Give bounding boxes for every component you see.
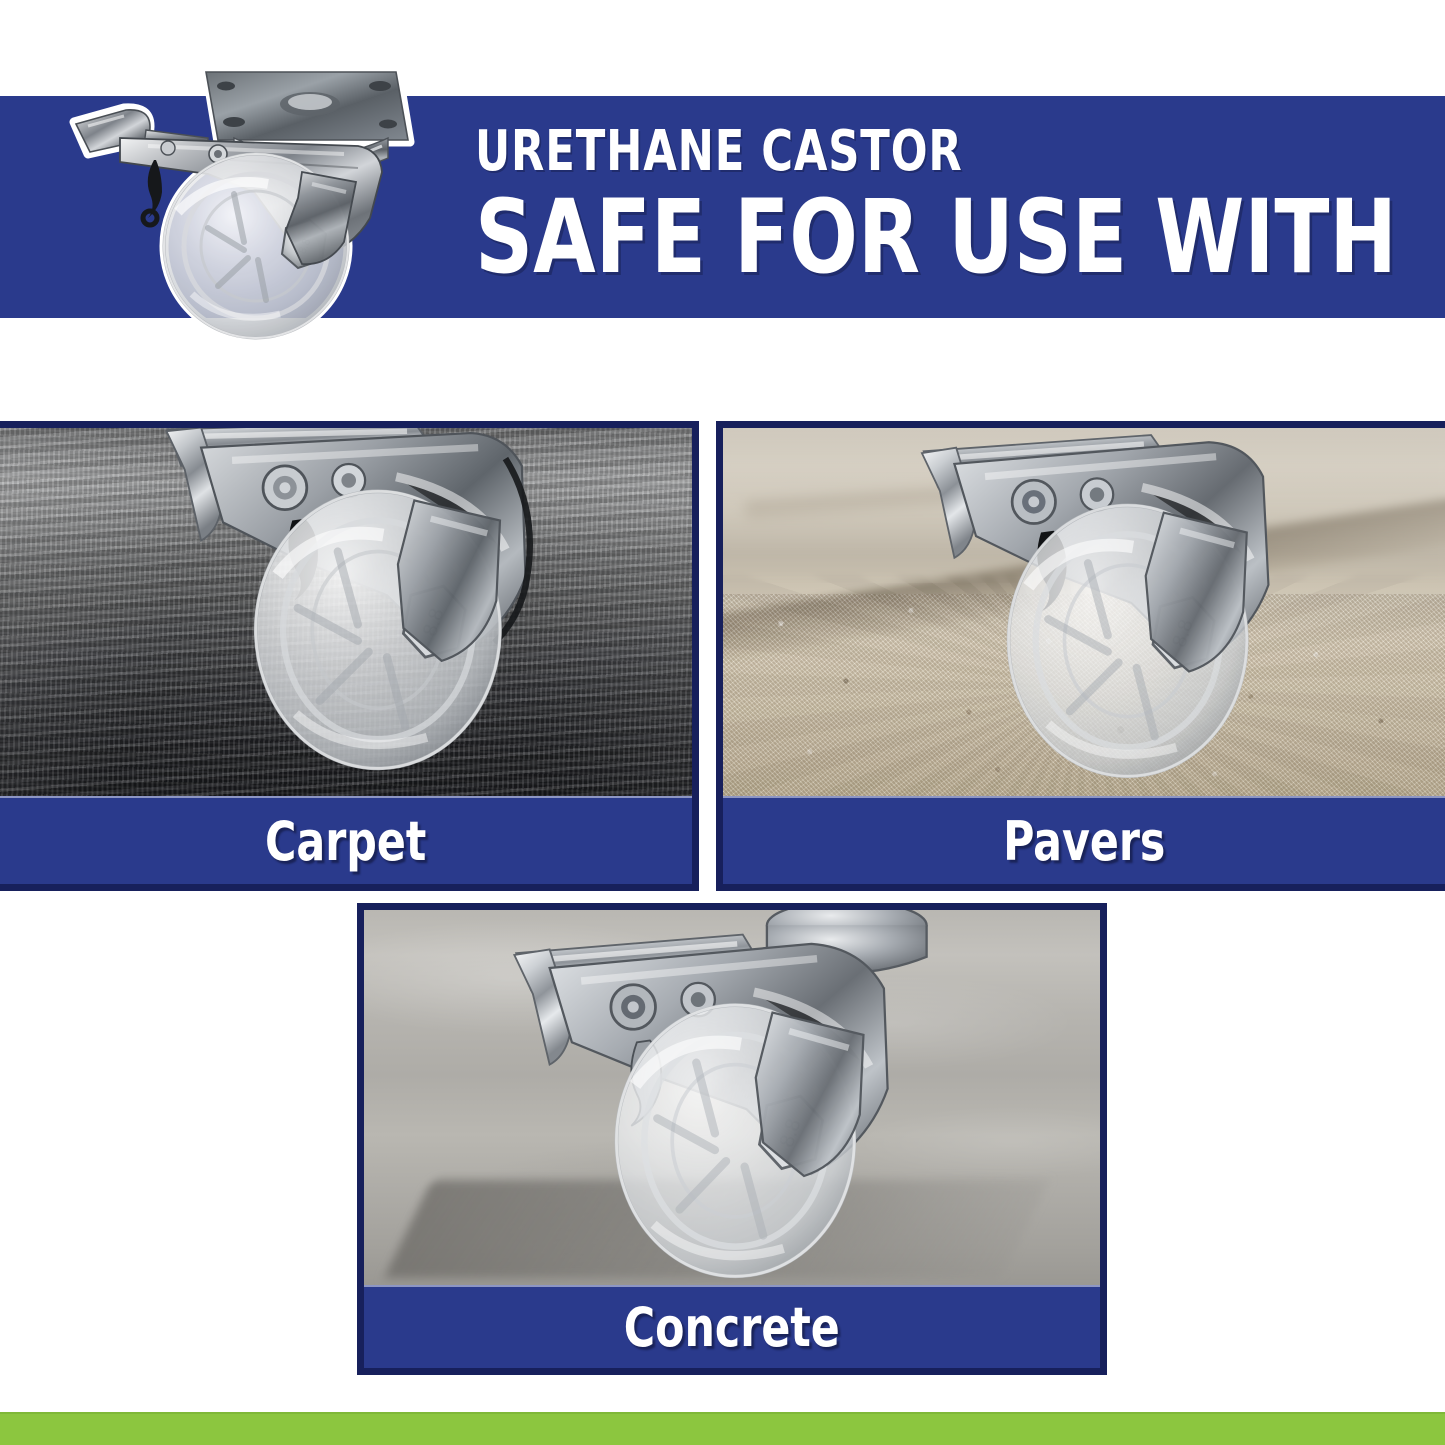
panel-label-pavers: Pavers bbox=[723, 796, 1445, 884]
caster-on-pavers-icon: 8.8 bbox=[824, 428, 1431, 796]
concrete-photo: 8.8 bbox=[364, 910, 1100, 1285]
surface-panel-pavers: 8.8 Pavers bbox=[716, 421, 1445, 891]
panel-label-text-pavers: Pavers bbox=[1003, 810, 1165, 873]
header-text-block: URETHANE CASTOR SAFE FOR USE WITH bbox=[430, 96, 1440, 318]
panel-label-carpet: Carpet bbox=[0, 796, 692, 884]
header-title-line-1: URETHANE CASTOR bbox=[475, 124, 963, 180]
swivel-caster-icon: 8.8 bbox=[58, 42, 438, 354]
panel-label-text-concrete: Concrete bbox=[624, 1296, 840, 1359]
hero-caster-image: 8.8 bbox=[58, 42, 438, 354]
surface-panel-carpet: 8.8 Carpet bbox=[0, 421, 699, 891]
pavers-photo: 8.8 bbox=[723, 428, 1445, 796]
surface-panel-concrete: 8.8 Concrete bbox=[357, 903, 1107, 1375]
caster-on-concrete-icon: 8.8 bbox=[430, 910, 1063, 1285]
panel-label-text-carpet: Carpet bbox=[265, 810, 426, 873]
header-title-line-2: SAFE FOR USE WITH bbox=[475, 186, 1397, 290]
panel-label-concrete: Concrete bbox=[364, 1285, 1100, 1368]
infographic-page: URETHANE CASTOR SAFE FOR USE WITH bbox=[0, 0, 1445, 1445]
footer-accent-bar bbox=[0, 1412, 1445, 1445]
carpet-photo: 8.8 bbox=[0, 428, 692, 796]
caster-on-carpet-icon: 8.8 bbox=[89, 428, 685, 796]
